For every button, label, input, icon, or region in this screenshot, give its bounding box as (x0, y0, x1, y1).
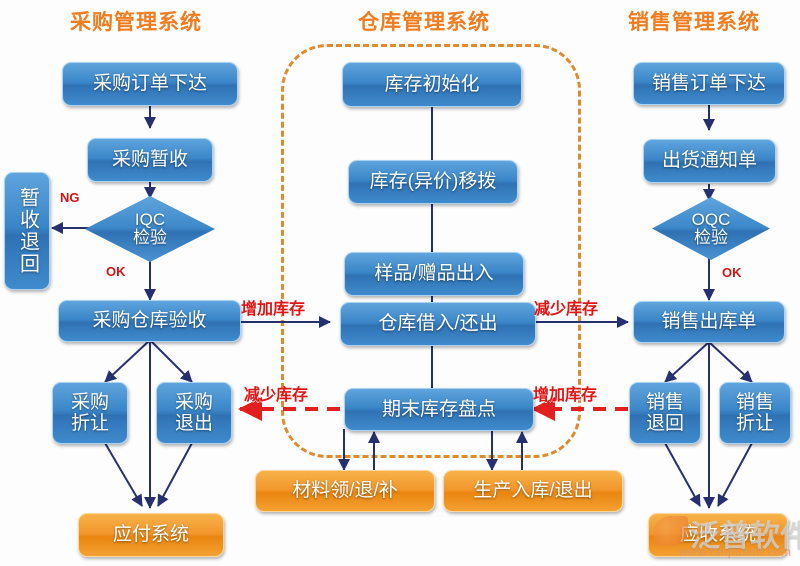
node-oqc-inspection[interactable]: OQC 检验 (652, 197, 770, 260)
node-material-issue[interactable]: 材料领/退/补 (255, 470, 435, 512)
node-so-delivery[interactable]: 销售出库单 (633, 301, 785, 343)
section-title-warehouse: 仓库管理系统 (358, 6, 490, 36)
node-ap-system[interactable]: 应付系统 (78, 513, 224, 557)
node-stock-init[interactable]: 库存初始化 (342, 62, 522, 107)
node-iqc-label: IQC 检验 (133, 211, 167, 247)
node-po-temp-recv[interactable]: 采购暂收 (87, 138, 213, 182)
flow-label-decrease-stock-right: 减少库存 (534, 295, 598, 319)
diagram-canvas: 采购管理系统 仓库管理系统 销售管理系统 (0, 0, 800, 566)
node-stock-transfer[interactable]: 库存(异价)移拨 (348, 160, 518, 204)
node-prod-receipt[interactable]: 生产入库/退出 (443, 470, 623, 512)
node-po-temp-return[interactable]: 暂收退回 (4, 172, 50, 290)
edge-label-ng: NG (60, 190, 80, 205)
node-sample-gift[interactable]: 样品/赠品出入 (344, 252, 524, 296)
flow-label-decrease-stock-left: 减少库存 (244, 381, 308, 405)
section-title-sales: 销售管理系统 (628, 6, 760, 36)
node-ship-notice[interactable]: 出货通知单 (643, 139, 776, 183)
flow-label-increase-stock-left: 增加库存 (241, 295, 305, 319)
node-iqc-inspection[interactable]: IQC 检验 (85, 196, 215, 262)
node-po-discount[interactable]: 采购 折让 (52, 382, 128, 444)
node-so-release[interactable]: 销售订单下达 (633, 62, 785, 105)
node-so-discount[interactable]: 销售 折让 (719, 382, 791, 444)
node-po-release[interactable]: 采购订单下达 (62, 62, 238, 106)
node-so-return[interactable]: 销售 退回 (629, 382, 701, 444)
node-po-return[interactable]: 采购 退出 (156, 382, 232, 444)
node-po-wh-accept[interactable]: 采购仓库验收 (58, 300, 241, 342)
node-oqc-label: OQC 检验 (692, 211, 731, 247)
node-period-count[interactable]: 期末库存盘点 (344, 388, 534, 431)
node-ar-system[interactable]: 应收系统 (648, 513, 788, 557)
section-title-purchase: 采购管理系统 (70, 6, 202, 36)
flow-label-increase-stock-right: 增加库存 (533, 381, 597, 405)
edge-label-ok-oqc: OK (722, 265, 742, 280)
node-wh-borrow[interactable]: 仓库借入/还出 (340, 302, 536, 346)
edge-label-ok-iqc: OK (106, 264, 126, 279)
